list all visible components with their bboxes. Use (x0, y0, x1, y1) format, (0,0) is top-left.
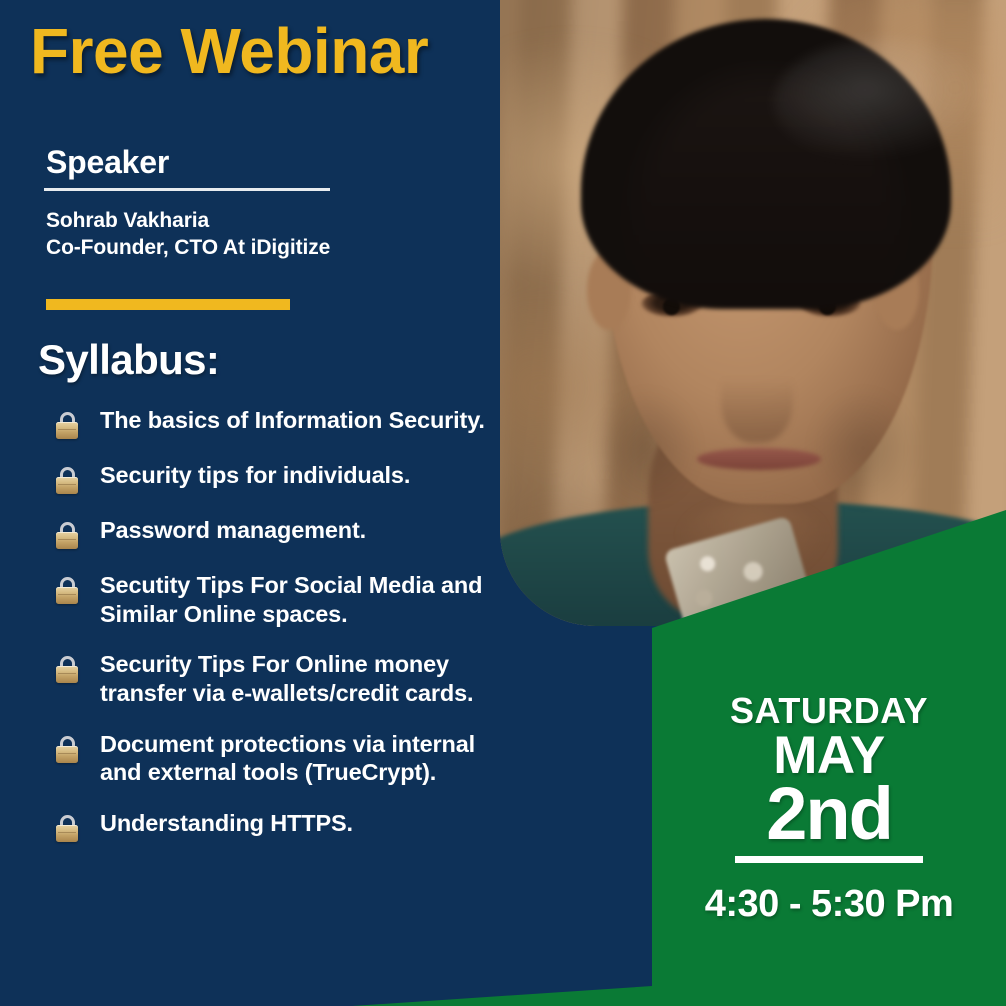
list-item: The basics of Information Security. (56, 406, 508, 439)
lock-icon (56, 467, 78, 494)
list-item: Understanding HTTPS. (56, 809, 508, 842)
list-item-label: Security Tips For Online money transfer … (100, 650, 508, 707)
event-date-block: SATURDAY MAY 2nd 4:30 - 5:30 Pm (652, 690, 1006, 926)
event-day: 2nd (652, 778, 1006, 851)
list-item: Document protections via internal and ex… (56, 730, 508, 787)
list-item: Secutity Tips For Social Media and Simil… (56, 571, 508, 628)
speaker-role: Co-Founder, CTO At iDigitize (46, 235, 330, 262)
speaker-details: Sohrab Vakharia Co-Founder, CTO At iDigi… (46, 208, 330, 262)
list-item-label: Understanding HTTPS. (100, 809, 353, 838)
syllabus-list: The basics of Information Security. Secu… (56, 406, 508, 864)
list-item-label: Secutity Tips For Social Media and Simil… (100, 571, 508, 628)
accent-divider-bar (46, 299, 290, 310)
syllabus-heading: Syllabus: (38, 336, 219, 384)
photo-nose (721, 351, 793, 443)
photo-mouth (697, 448, 821, 470)
lock-icon (56, 522, 78, 549)
webinar-poster: Free Webinar Speaker Sohrab Vakharia Co-… (0, 0, 1006, 1006)
lock-icon (56, 736, 78, 763)
event-time: 4:30 - 5:30 Pm (652, 883, 1006, 926)
speaker-heading: Speaker (46, 144, 169, 181)
list-item-label: The basics of Information Security. (100, 406, 485, 435)
list-item-label: Password management. (100, 516, 366, 545)
lock-icon (56, 656, 78, 683)
photo-cheek-left (593, 388, 701, 508)
speaker-name: Sohrab Vakharia (46, 208, 330, 235)
list-item: Security tips for individuals. (56, 461, 508, 494)
list-item: Security Tips For Online money transfer … (56, 650, 508, 707)
lock-icon (56, 577, 78, 604)
photo-cheek-right (809, 388, 917, 508)
lock-icon (56, 412, 78, 439)
list-item: Password management. (56, 516, 508, 549)
event-day-underline (735, 856, 923, 863)
page-title: Free Webinar (30, 14, 428, 88)
lock-icon (56, 815, 78, 842)
speaker-photo (500, 0, 1006, 626)
speaker-divider (44, 188, 330, 191)
list-item-label: Security tips for individuals. (100, 461, 410, 490)
list-item-label: Document protections via internal and ex… (100, 730, 508, 787)
photo-hair-highlight (773, 38, 1003, 168)
